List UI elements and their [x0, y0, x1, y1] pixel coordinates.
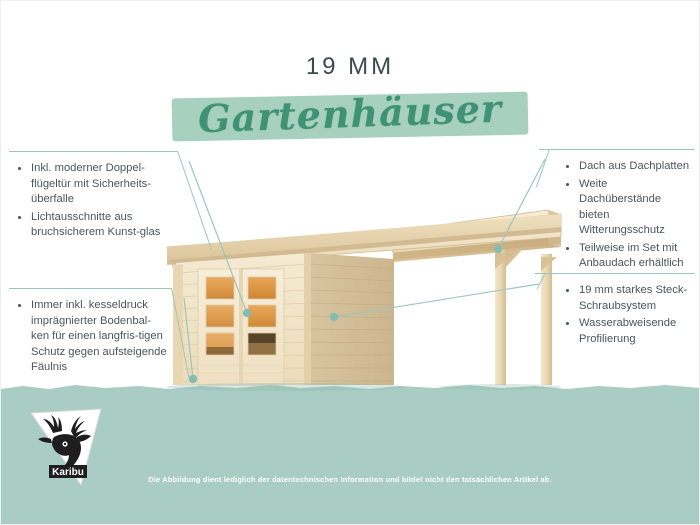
callout-edge-top: [9, 288, 171, 289]
logo-brand-text: Karibu: [52, 467, 84, 478]
callout-edge-slant: [536, 149, 550, 187]
callout-edge-slant: [537, 273, 546, 289]
list-item: Inkl. moderner Doppel-flügeltür mit Sich…: [17, 161, 167, 208]
list-item: Lichtausschnitte aus bruchsicherem Kunst…: [17, 210, 167, 241]
callout-edge-top: [535, 273, 695, 274]
list-item: Immer inkl. kesseldruck imprägnierter Bo…: [17, 298, 167, 376]
callout-features-floor: Immer inkl. kesseldruck imprägnierter Bo…: [1, 288, 197, 384]
callout-features-wall: 19 mm starkes Steck-Schraubsystem Wasser…: [533, 273, 700, 355]
callout-features-roof: Dach aus Dachplatten Weite Dachüberständ…: [533, 149, 700, 280]
list-item: Wasserabweisende Profilierung: [565, 316, 691, 347]
list-item: Dach aus Dachplatten: [565, 159, 691, 175]
karibu-logo: Karibu: [23, 407, 109, 489]
callout-edge-slant: [171, 288, 190, 379]
callout-features-door: Inkl. moderner Doppel-flügeltür mit Sich…: [1, 151, 197, 249]
list-item: Weite Dachüberstände bieten Witterungssc…: [565, 177, 691, 239]
list-item: 19 mm starkes Steck-Schraubsystem: [565, 283, 691, 314]
callout-edge-top: [539, 149, 695, 150]
infographic-canvas: 19 MM Gartenhäuser Inkl. moderner Doppel…: [0, 0, 700, 525]
callout-edge-top: [9, 151, 177, 152]
list-item: Teilweise im Set mit Anbaudach erhältlic…: [565, 241, 691, 272]
